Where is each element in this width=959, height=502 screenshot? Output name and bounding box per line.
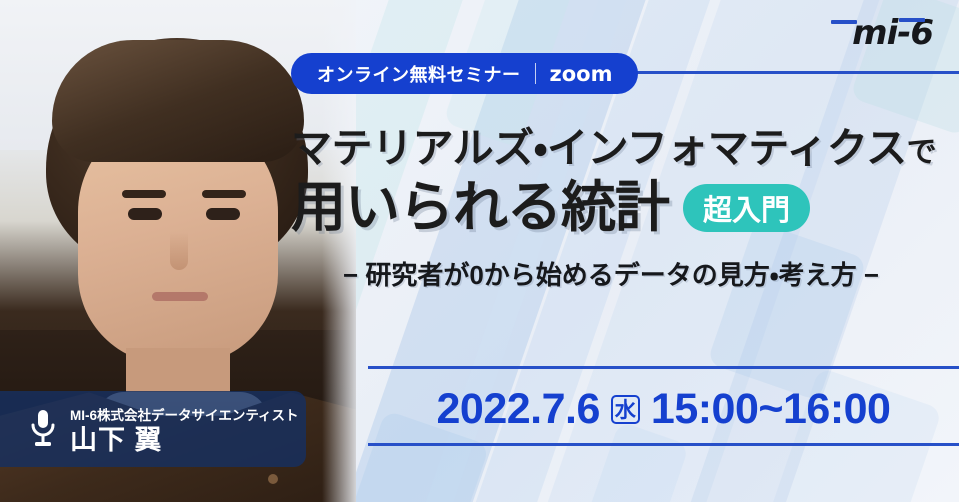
- event-date: 2022.7.6: [437, 388, 600, 431]
- event-weekday-badge: 水: [611, 395, 640, 424]
- date-divider-rule-top: [368, 366, 959, 369]
- seminar-type-label: オンライン無料セミナー: [317, 61, 521, 87]
- event-time: 15:00~16:00: [651, 388, 891, 431]
- title-line-2: 用いられる統計: [291, 180, 669, 235]
- logo-accent-tick: [899, 18, 925, 22]
- zoom-platform-label: zoom: [550, 62, 613, 86]
- speaker-name: 山下 翼: [70, 426, 299, 454]
- logo-accent-tick: [831, 20, 857, 24]
- headline-block: マテリアルズ・インフォマティクスで 用いられる統計 超入門 − 研究者が0から始…: [291, 128, 941, 292]
- subtitle: − 研究者が0から始めるデータの見方・考え方 −: [291, 255, 931, 292]
- title-line-1-suffix: で: [907, 136, 937, 169]
- date-divider-rule-bottom: [368, 443, 959, 446]
- seminar-banner: mi-6 オンライン無料セミナー zoom マテリアルズ・インフォマティクスで …: [0, 0, 959, 502]
- speaker-role: MI-6株式会社データサイエンティスト: [70, 404, 299, 424]
- badge-divider: [535, 63, 536, 84]
- mi-6-logo: mi-6: [825, 14, 933, 52]
- microphone-icon: [30, 409, 56, 449]
- schedule-row: 2022.7.6 水 15:00~16:00: [368, 378, 959, 440]
- speaker-banner: MI-6株式会社データサイエンティスト 山下 翼: [0, 391, 306, 467]
- seminar-type-badge: オンライン無料セミナー zoom: [291, 53, 638, 94]
- level-badge-label: 超入門: [703, 187, 790, 229]
- title-line-1: マテリアルズ・インフォマティクスで: [291, 128, 941, 169]
- level-badge: 超入門: [683, 184, 810, 232]
- title-row-2: 用いられる統計 超入門: [291, 180, 941, 235]
- speaker-text-block: MI-6株式会社データサイエンティスト 山下 翼: [70, 404, 299, 454]
- title-line-1-main: マテリアルズ・インフォマティクス: [291, 125, 907, 171]
